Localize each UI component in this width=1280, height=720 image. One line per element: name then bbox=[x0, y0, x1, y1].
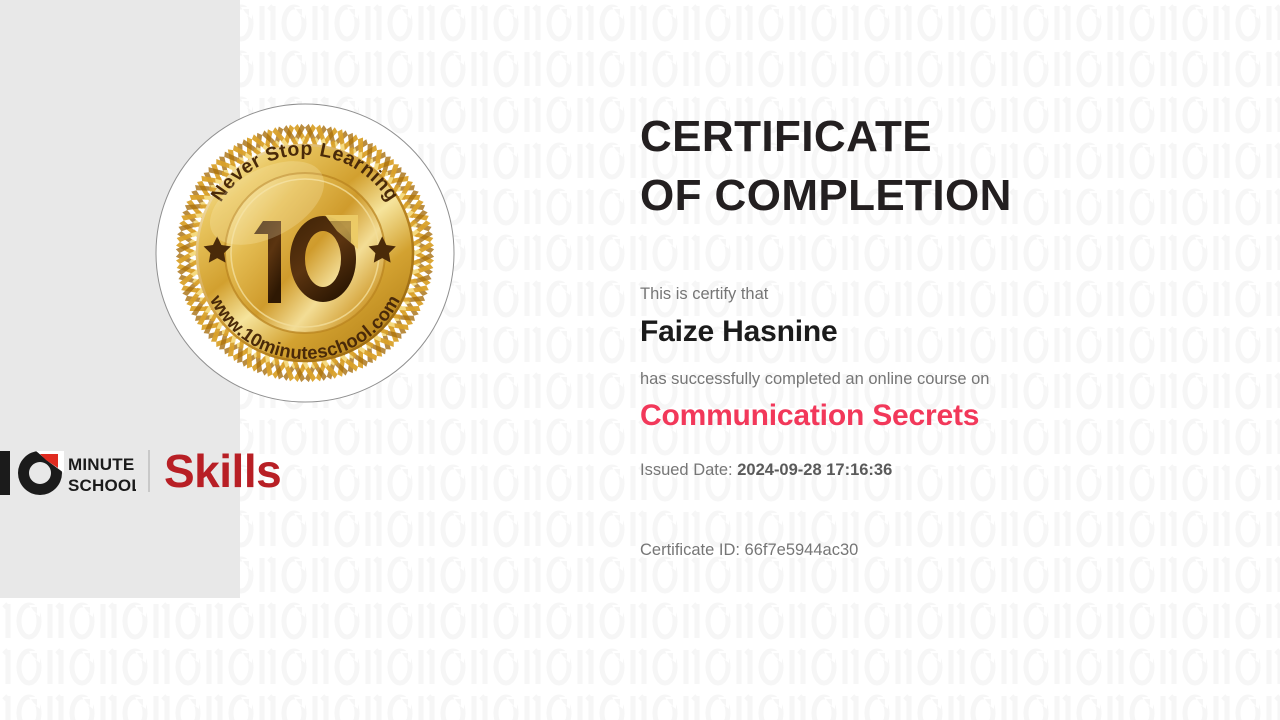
brand-divider bbox=[148, 450, 150, 492]
certificate-id: Certificate ID: 66f7e5944ac30 bbox=[640, 539, 1240, 563]
issued-date-row: Issued Date: 2024-09-28 17:16:36 bbox=[640, 459, 1240, 483]
brand-skills-label: Skills bbox=[164, 448, 281, 494]
issued-date-value: 2024-09-28 17:16:36 bbox=[737, 461, 892, 479]
title-line-2: OF COMPLETION bbox=[640, 167, 1240, 226]
gold-award-seal: Never Stop Learning www.10minuteschool.c… bbox=[155, 103, 455, 403]
certificate-canvas: Never Stop Learning www.10minuteschool.c… bbox=[0, 0, 1280, 720]
issued-date-label: Issued Date: bbox=[640, 461, 733, 479]
brand-lockup: MINUTE SCHOOL Skills bbox=[0, 443, 281, 499]
certify-block: This is certify that Faize Hasnine has s… bbox=[640, 283, 1240, 563]
svg-text:MINUTE: MINUTE bbox=[68, 455, 134, 474]
ten-minute-school-logo: MINUTE SCHOOL bbox=[0, 443, 136, 499]
svg-text:SCHOOL: SCHOOL bbox=[68, 476, 136, 495]
course-name: Communication Secrets bbox=[640, 397, 1240, 435]
certify-label: This is certify that bbox=[640, 283, 1240, 307]
certificate-content: CERTIFICATE OF COMPLETION This is certif… bbox=[640, 108, 1240, 563]
recipient-name: Faize Hasnine bbox=[640, 313, 1240, 351]
title-line-1: CERTIFICATE bbox=[640, 112, 932, 161]
completion-label: has successfully completed an online cou… bbox=[640, 368, 1240, 392]
page-title: CERTIFICATE OF COMPLETION bbox=[640, 108, 1240, 225]
